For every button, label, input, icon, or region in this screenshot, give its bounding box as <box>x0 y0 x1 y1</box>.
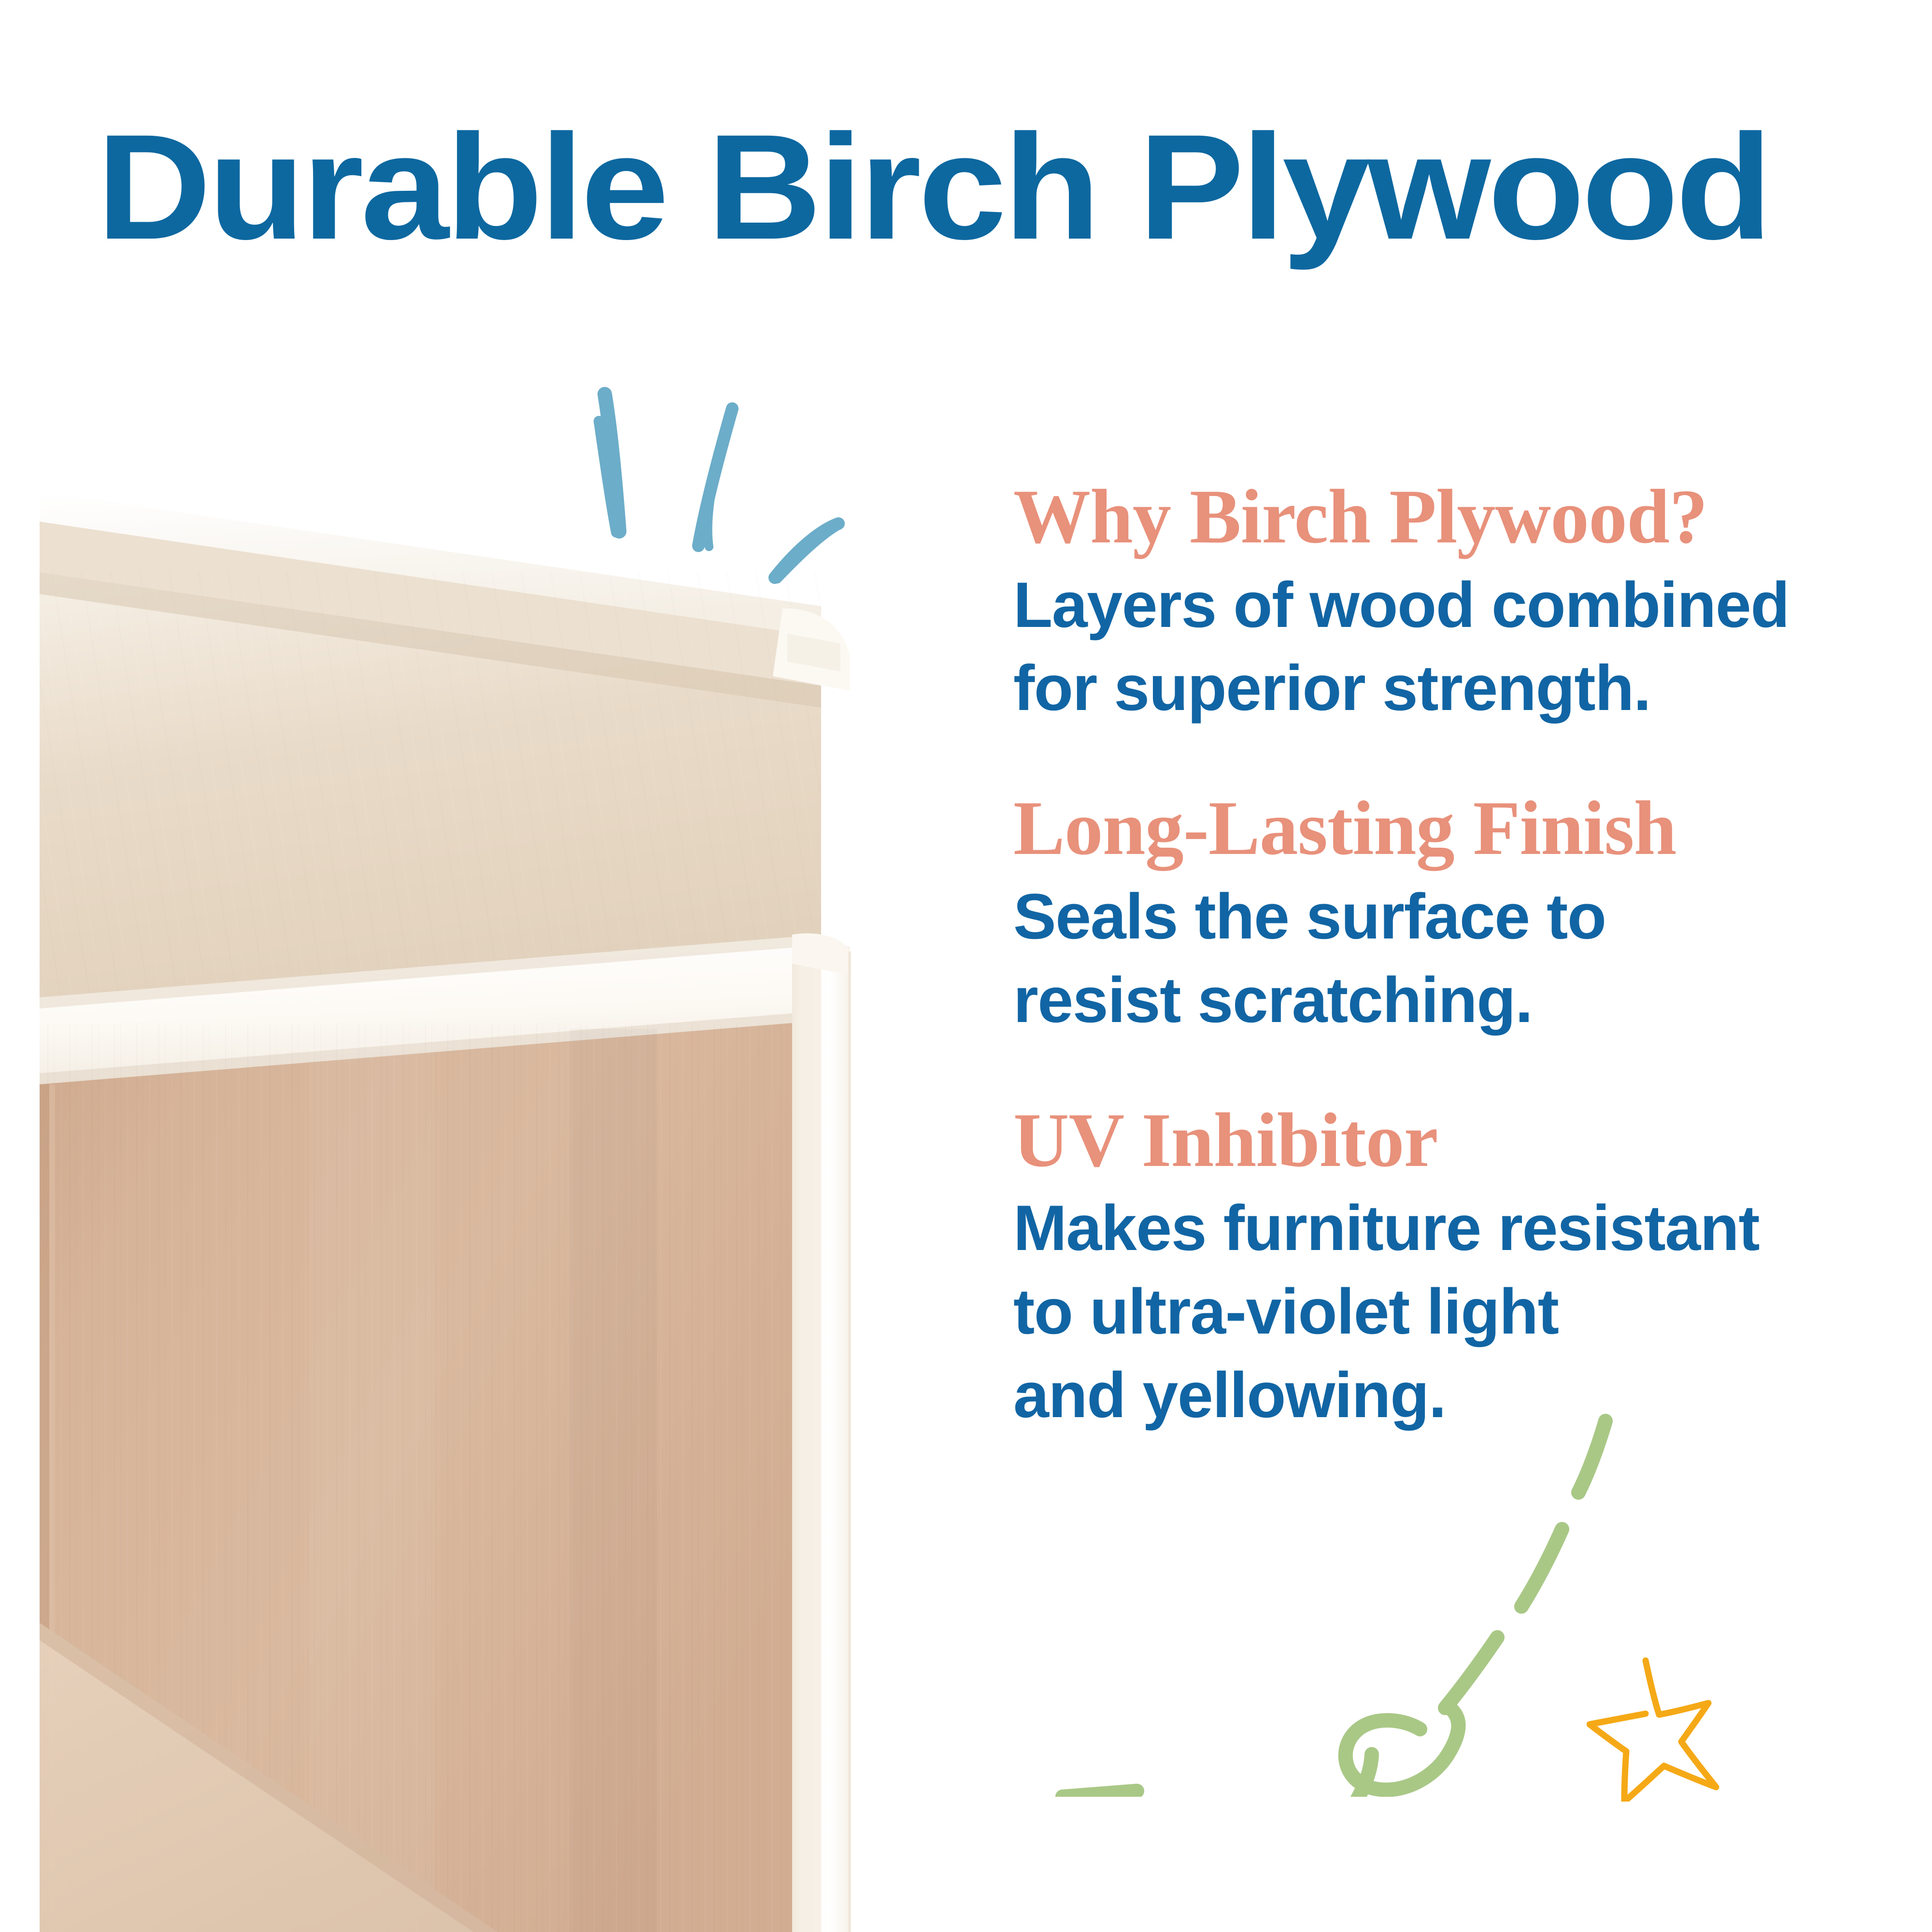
feature-description: Layers of wood combined for superior str… <box>1013 564 1892 731</box>
feature-item: Long-Lasting Finish Seals the surface to… <box>1013 787 1892 1042</box>
feature-heading: Why Birch Plywood? <box>1013 476 1892 558</box>
feature-description: Seals the surface to resist scratching. <box>1013 875 1892 1042</box>
feature-list: Why Birch Plywood? Layers of wood combin… <box>1013 476 1892 1437</box>
star-icon <box>1587 1652 1732 1804</box>
feature-item: Why Birch Plywood? Layers of wood combin… <box>1013 476 1892 730</box>
page-title: Durable Birch Plywood <box>97 112 1932 262</box>
feature-heading: Long-Lasting Finish <box>1013 787 1892 869</box>
product-photo <box>0 464 884 1932</box>
feature-item: UV Inhibitor Makes furniture resistant t… <box>1013 1099 1892 1437</box>
feature-line: Seals the surface to <box>1013 875 1892 959</box>
feature-heading: UV Inhibitor <box>1013 1099 1892 1181</box>
feature-line: and yellowing. <box>1013 1354 1892 1437</box>
feature-line: resist scratching. <box>1013 959 1892 1042</box>
feature-description: Makes furniture resistant to ultra-viole… <box>1013 1187 1892 1437</box>
feature-line: for superior strength. <box>1013 647 1892 730</box>
feature-line: to ultra-violet light <box>1013 1270 1892 1354</box>
feature-line: Layers of wood combined <box>1013 564 1892 647</box>
feature-line: Makes furniture resistant <box>1013 1187 1892 1270</box>
infographic-canvas: Durable Birch Plywood <box>0 0 1932 1932</box>
curved-arrow-icon <box>1034 1410 1671 1799</box>
